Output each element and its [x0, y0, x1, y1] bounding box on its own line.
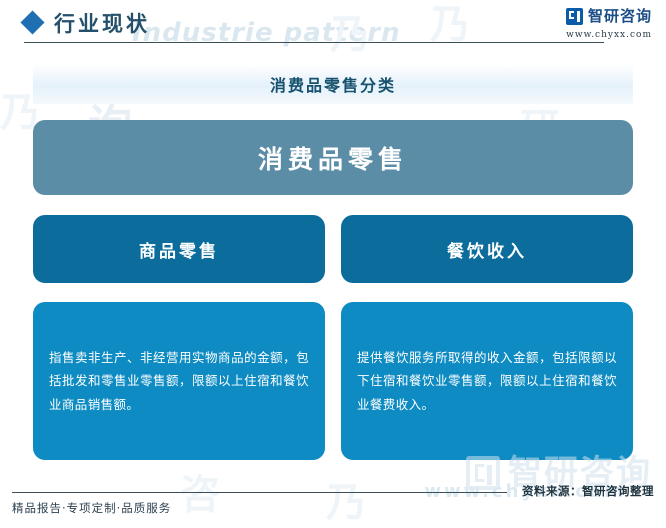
- diamond-icon: [20, 10, 44, 34]
- diagram-root-node: 消费品零售: [33, 120, 633, 195]
- diagram-description-node-1: 指售卖非生产、非经营用实物商品的金额，包括批发和零售业零售额，限额以上住宿和餐饮…: [33, 302, 325, 460]
- footer-tagline: 精品报告·专项定制·品质服务: [12, 500, 171, 516]
- footer-divider: [12, 492, 507, 493]
- diagram-branch-label-2: 餐饮收入: [447, 237, 527, 262]
- page-header: 行业现状 智研咨询 www.chyxx.com: [0, 0, 666, 46]
- diagram-root-label: 消费品零售: [258, 140, 408, 176]
- page-title: 行业现状: [54, 8, 150, 38]
- zhiyan-logo-icon: [566, 8, 583, 25]
- header-divider: [24, 42, 604, 43]
- background-watermark-glyph-7: 咨: [180, 462, 220, 520]
- background-watermark-glyph-6: 乃: [326, 470, 366, 528]
- chart-title-bar: 消费品零售分类: [33, 64, 633, 104]
- brand-name: 智研咨询: [588, 9, 652, 24]
- diagram-description-text-2: 提供餐饮服务所取得的收入金额，包括限额以下住宿和餐饮业零售额，限额以上住宿和餐饮…: [341, 346, 633, 415]
- diagram-branch-node-2: 餐饮收入: [341, 215, 633, 283]
- brand-url: www.chyxx.com: [566, 30, 652, 40]
- diagram-branch-node-1: 商品零售: [33, 215, 325, 283]
- chart-title: 消费品零售分类: [270, 72, 396, 96]
- footer-source: 资料来源：智研咨询整理: [522, 483, 654, 499]
- diagram-description-text-1: 指售卖非生产、非经营用实物商品的金额，包括批发和零售业零售额，限额以上住宿和餐饮…: [33, 346, 325, 415]
- brand-row: 智研咨询: [566, 8, 652, 25]
- diagram-branch-label-1: 商品零售: [139, 237, 219, 262]
- watermark-logo-icon: [466, 456, 500, 490]
- brand-block: 智研咨询 www.chyxx.com: [566, 8, 652, 40]
- diagram-description-node-2: 提供餐饮服务所取得的收入金额，包括限额以下住宿和餐饮业零售额，限额以上住宿和餐饮…: [341, 302, 633, 460]
